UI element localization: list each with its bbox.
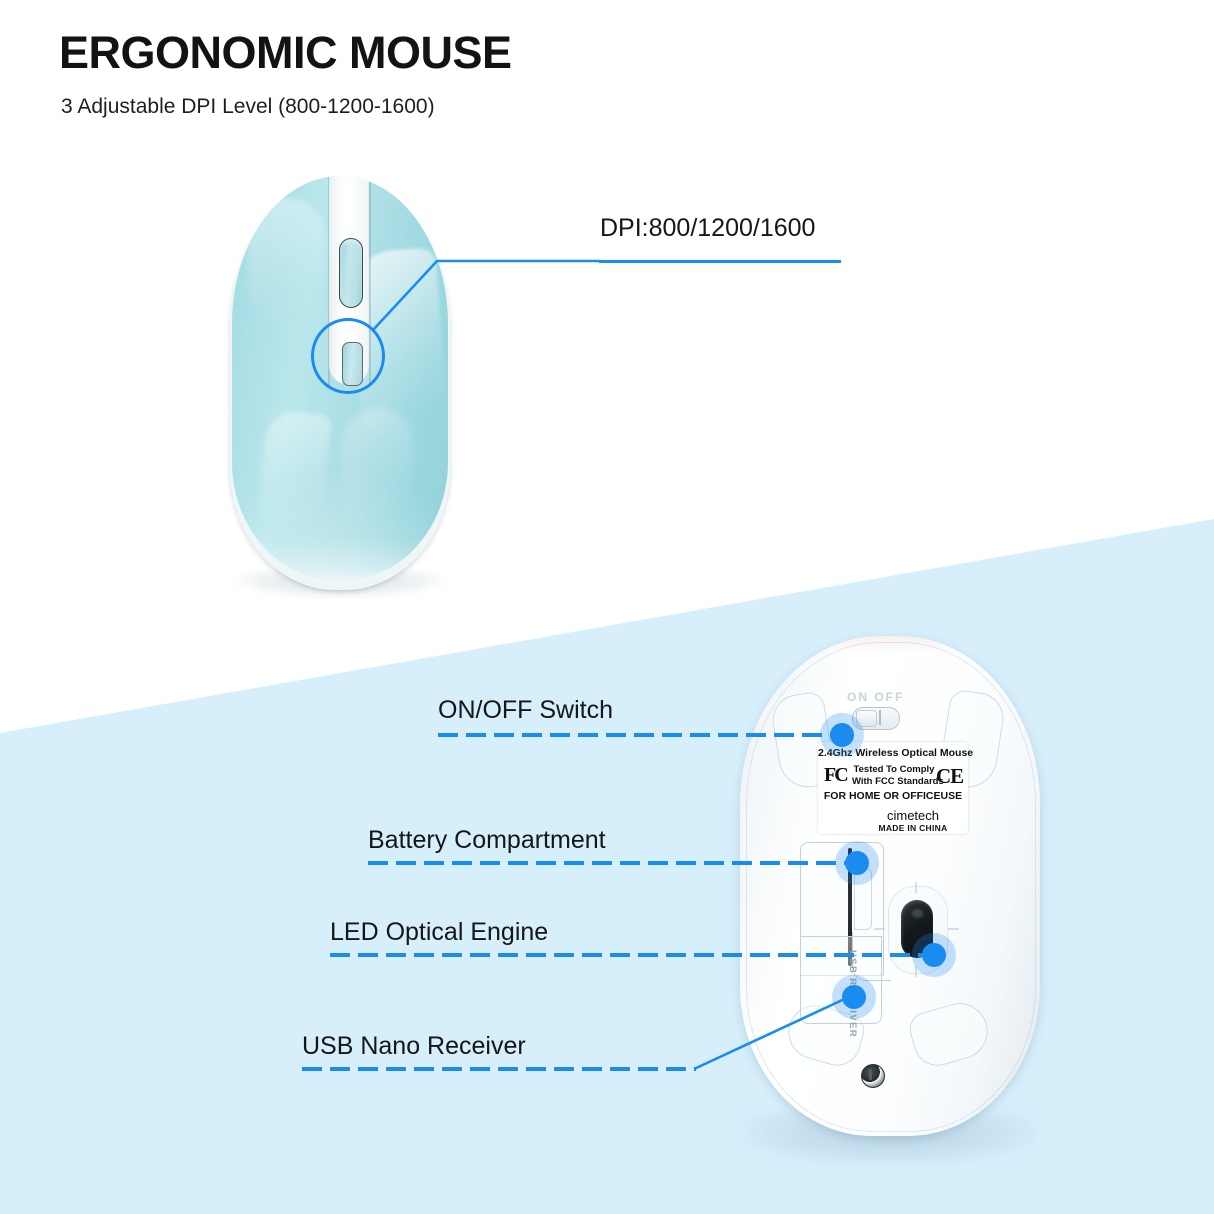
- infographic-canvas: ERGONOMIC MOUSE 3 Adjustable DPI Level (…: [0, 0, 1214, 1214]
- usb-leader-angle: [0, 0, 1214, 1214]
- marker-dot-usb-nano-receiver: [842, 985, 866, 1009]
